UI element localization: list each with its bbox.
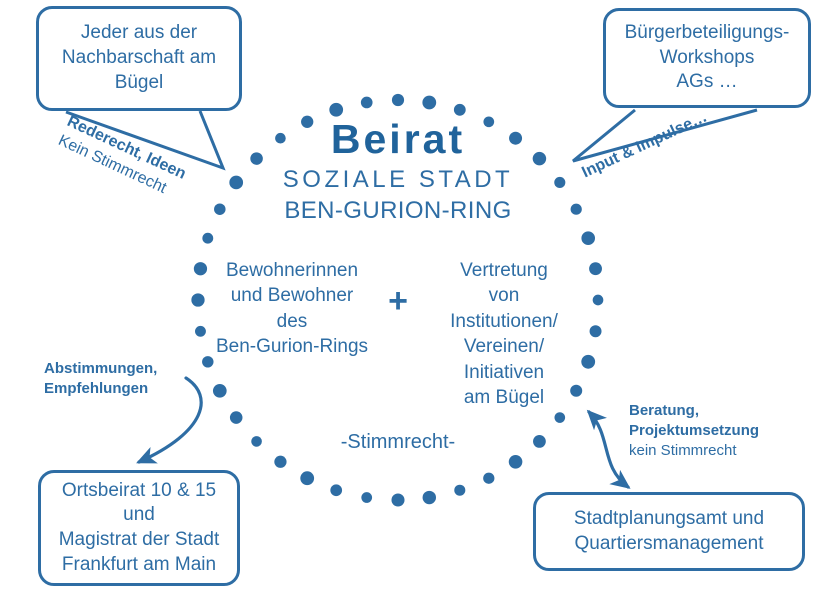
ring-dot <box>423 491 436 504</box>
bubble-line: Bügel <box>62 71 216 96</box>
ring-dot <box>329 103 343 117</box>
ring-dot <box>554 412 565 423</box>
bubble-workshops: Bürgerbeteiligungs- Workshops AGs … <box>603 8 811 108</box>
caption-rederecht: Rederecht, Ideen Kein Stimmrecht <box>54 112 188 204</box>
bubble-line: Nachbarschaft am <box>62 46 216 71</box>
box-ortsbeirat: Ortsbeirat 10 & 15 und Magistrat der Sta… <box>38 470 240 586</box>
ring-dot <box>422 96 436 110</box>
member-group-residents: Bewohnerinnen und Bewohner des Ben-Gurio… <box>206 258 378 360</box>
ring-dot <box>533 435 546 448</box>
box-line: Ortsbeirat 10 & 15 <box>59 479 220 504</box>
bubble-line: Bürgerbeteiligungs- <box>625 21 790 46</box>
members-row: Bewohnerinnen und Bewohner des Ben-Gurio… <box>198 258 598 411</box>
member-line: und Bewohner <box>206 283 378 308</box>
member-line: Vereinen/ <box>418 334 590 359</box>
subtitle-soziale-stadt: SOZIALE STADT <box>198 165 598 195</box>
box-stadtplanungsamt: Stadtplanungsamt und Quartiersmanagement <box>533 492 805 571</box>
ring-dot <box>454 104 466 116</box>
caption-input-impulse: Input & Impulse… <box>579 108 711 184</box>
bubble-line: Workshops <box>625 46 790 71</box>
ring-dot <box>251 436 262 447</box>
plus-icon: + <box>378 284 418 318</box>
caption-line-strong: Projektumsetzung <box>629 421 759 441</box>
caption-line-strong: Abstimmungen, <box>44 359 157 379</box>
ring-dot <box>361 492 372 503</box>
member-group-institutions: Vertretung von Institutionen/ Vereinen/ … <box>418 258 590 411</box>
ring-dot <box>454 485 465 496</box>
caption-line-weak: kein Stimmrecht <box>629 441 759 461</box>
caption-line-strong: Empfehlungen <box>44 379 157 399</box>
ring-dot <box>361 97 373 109</box>
box-line: Magistrat der Stadt <box>59 528 220 553</box>
box-line: und <box>59 503 220 528</box>
bubble-line: AGs … <box>625 70 790 95</box>
ring-dot <box>330 484 342 496</box>
ring-dot <box>274 456 286 468</box>
center-heading-block: Beirat SOZIALE STADT BEN-GURION-RING <box>198 118 598 226</box>
ring-dot <box>483 473 494 484</box>
page-title: Beirat <box>198 118 598 161</box>
ring-dot <box>392 94 404 106</box>
member-line: Bewohnerinnen <box>206 258 378 283</box>
caption-line-strong: Input & Impulse… <box>579 108 709 181</box>
caption-beratung: Beratung, Projektumsetzung kein Stimmrec… <box>629 401 759 460</box>
caption-line-strong: Beratung, <box>629 401 759 421</box>
box-line: Frankfurt am Main <box>59 553 220 578</box>
ring-dot <box>202 233 213 244</box>
member-line: Ben-Gurion-Rings <box>206 334 378 359</box>
ring-dot <box>391 493 404 506</box>
member-line: am Bügel <box>418 385 590 410</box>
member-line: Vertretung <box>418 258 590 283</box>
box-line: Stadtplanungsamt und <box>574 507 764 532</box>
arrow-beratung <box>589 412 628 487</box>
ring-dot <box>509 455 523 469</box>
bubble-neighbourhood: Jeder aus der Nachbarschaft am Bügel <box>36 6 242 111</box>
member-line: Institutionen/ <box>418 309 590 334</box>
bubble-line: Jeder aus der <box>62 21 216 46</box>
member-line: Initiativen <box>418 360 590 385</box>
subtitle-ben-gurion-ring: BEN-GURION-RING <box>198 196 598 226</box>
caption-abstimmungen: Abstimmungen, Empfehlungen <box>44 359 157 399</box>
member-line: von <box>418 283 590 308</box>
member-line: des <box>206 309 378 334</box>
ring-dot <box>581 231 595 245</box>
diagram-canvas: Beirat SOZIALE STADT BEN-GURION-RING Bew… <box>0 0 820 600</box>
ring-dot <box>300 471 314 485</box>
box-line: Quartiersmanagement <box>574 532 764 557</box>
stimmrecht-label: -Stimmrecht- <box>298 431 498 454</box>
ring-dot <box>230 411 243 424</box>
